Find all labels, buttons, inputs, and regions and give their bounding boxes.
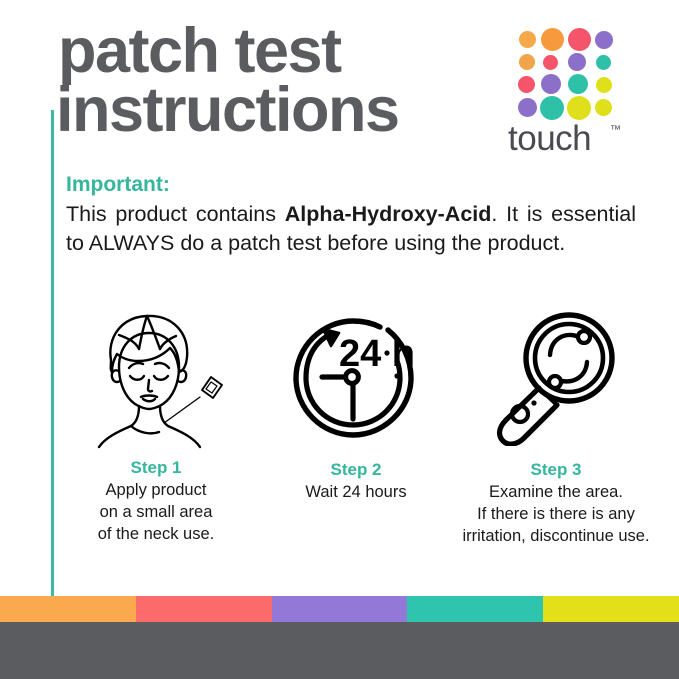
logo-dot — [541, 74, 561, 94]
header: patch test instructions touch ™ — [0, 0, 679, 170]
logo-dot — [595, 99, 612, 116]
footer-color-swatch — [272, 596, 408, 622]
logo-dot — [568, 74, 588, 94]
page-title: patch test instructions — [56, 22, 511, 140]
intro-text-emphasis: Alpha-Hydroxy-Acid — [285, 202, 492, 226]
footer-color-swatches — [0, 596, 679, 622]
intro-text-before: This product contains — [66, 202, 285, 226]
brand-logo: touch ™ — [508, 28, 640, 163]
footer-bar — [0, 622, 679, 679]
logo-dot — [518, 76, 535, 93]
logo-dot — [518, 98, 537, 117]
step-3-illustration — [489, 300, 624, 452]
logo-dot — [519, 54, 535, 70]
magnifying-glass-icon — [489, 306, 624, 446]
logo-dot — [596, 77, 612, 93]
footer-color-swatch — [136, 596, 272, 622]
important-label: Important: — [66, 172, 636, 198]
trademark-symbol: ™ — [610, 124, 621, 136]
logo-dot — [543, 55, 558, 70]
step-1-label: Step 1 — [130, 458, 181, 478]
intro-paragraph: This product contains Alpha-Hydroxy-Acid… — [66, 200, 636, 257]
clock-24h-icon: 24 h — [284, 308, 429, 448]
step-2-label: Step 2 — [330, 460, 381, 480]
footer-color-swatch — [0, 596, 136, 622]
touch-dot-grid-logo-icon — [516, 28, 612, 120]
logo-dot — [519, 31, 536, 48]
step-3-label: Step 3 — [530, 460, 581, 480]
step-1-illustration — [81, 300, 231, 450]
logo-dot — [568, 28, 591, 51]
step-2-description: Wait 24 hours — [305, 482, 406, 504]
clock-24h-text: 24 h — [338, 333, 414, 375]
logo-dot — [568, 53, 586, 71]
logo-dot — [567, 96, 591, 120]
step-2: 24 h Step 2 Wait 24 hours — [256, 300, 456, 570]
footer-color-swatch — [407, 596, 543, 622]
intro-block: Important: This product contains Alpha-H… — [66, 172, 636, 257]
page-title-line-2: instructions — [56, 81, 511, 140]
face-with-towel-patch-icon — [81, 305, 231, 450]
vertical-accent-rule — [51, 110, 54, 610]
logo-dot — [596, 55, 611, 70]
logo-dot — [540, 96, 564, 120]
step-1: Step 1 Apply product on a small area of … — [56, 300, 256, 570]
step-1-description: Apply product on a small area of the nec… — [98, 480, 215, 545]
step-3: Step 3 Examine the area. If there is the… — [456, 300, 656, 570]
page-title-line-1: patch test — [58, 22, 511, 81]
logo-dot — [541, 28, 564, 51]
logo-dot — [595, 31, 613, 49]
step-2-illustration: 24 h — [284, 300, 429, 456]
footer-color-swatch — [543, 596, 679, 622]
steps-row: Step 1 Apply product on a small area of … — [56, 300, 656, 570]
step-3-description: Examine the area. If there is there is a… — [462, 482, 649, 547]
